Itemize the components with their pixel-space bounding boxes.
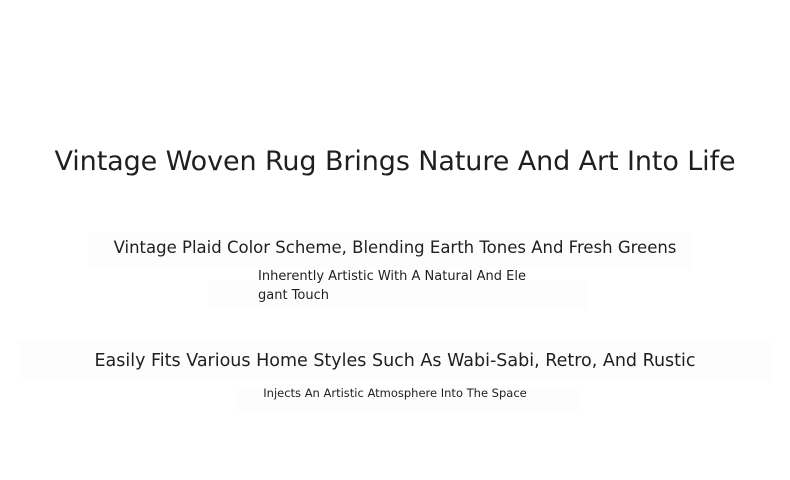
feature-one-detail: Inherently Artistic With A Natural And E…	[258, 267, 534, 305]
page-title: Vintage Woven Rug Brings Nature And Art …	[0, 143, 790, 181]
content-container: Vintage Woven Rug Brings Nature And Art …	[0, 0, 790, 480]
slide-page: Vintage Woven Rug Brings Nature And Art …	[0, 0, 790, 480]
feature-one-heading: Vintage Plaid Color Scheme, Blending Ear…	[0, 236, 790, 260]
feature-two-heading: Easily Fits Various Home Styles Such As …	[0, 349, 790, 374]
feature-two-detail: Injects An Artistic Atmosphere Into The …	[0, 385, 790, 402]
